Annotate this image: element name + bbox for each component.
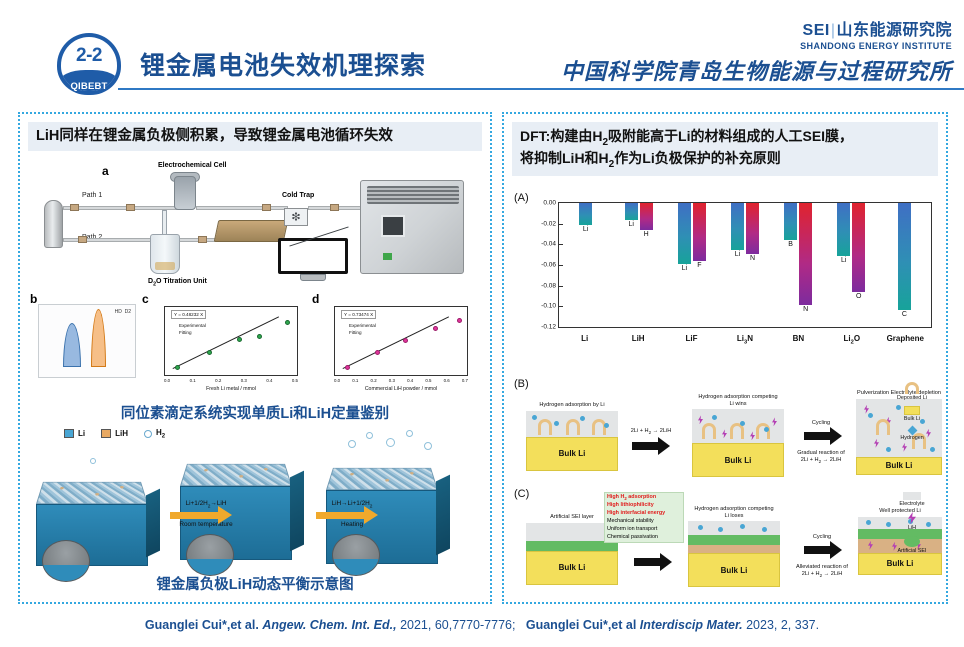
left-panel-mid-caption: 同位素滴定系统实现单质Li和LiH定量鉴别	[20, 402, 490, 423]
chart-bar: Li	[625, 203, 638, 220]
electrolyte-icon	[903, 492, 921, 500]
argon-tank-icon	[44, 200, 63, 248]
zoom-inset-3	[332, 534, 380, 576]
hydrogen-particle	[929, 446, 936, 453]
figure-d-legend-exp: Experimental	[349, 323, 376, 330]
chart-bar-fill	[678, 203, 691, 264]
reaction-1-label: Li+1/2H2→LiH	[146, 500, 266, 509]
valve-3	[78, 236, 87, 243]
panel-b-arrow-1	[632, 442, 658, 450]
figure-b-label: b	[30, 292, 37, 306]
panel-c-stage-2: Hydrogen adsorption competing Li loses B…	[688, 506, 780, 587]
figure-d-point	[375, 350, 380, 355]
figure-d-point	[433, 326, 438, 331]
legend-item-h2: H2	[144, 428, 165, 440]
valve-1	[70, 204, 79, 211]
hydrogen-particle	[717, 526, 724, 533]
chart-ytick: -0.12	[541, 324, 556, 331]
chart-bar-site-label: Li	[682, 265, 687, 272]
h2-bubble	[386, 438, 395, 447]
figure-a-apparatus: a Electrochemical Cell Cold Trap D2O Tit…	[30, 162, 484, 290]
electrolyte-region	[692, 409, 784, 443]
transition-arrow-2: LiH→Li+1/2H2 Heating	[292, 500, 412, 528]
hydrogen-particle	[867, 412, 874, 419]
figure-b-canvas: HD D2	[38, 304, 136, 378]
chart-bar-fill	[898, 203, 911, 310]
chart-ytick: 0.00	[543, 200, 556, 207]
chart-bar: N	[799, 203, 812, 305]
hydrogen-particle	[885, 446, 892, 453]
legend-item-deposited-li: Deposited Li	[884, 382, 940, 401]
li-swatch-icon	[64, 429, 74, 438]
panel-c-arrow-2-sub-line2: 2Li + H2 → 2LiH	[784, 571, 860, 579]
hydrogen-particle	[579, 415, 586, 422]
chart-bar-site-label: Li	[583, 226, 588, 233]
chart-bar: Li	[579, 203, 592, 225]
h2-bubble	[424, 442, 432, 450]
condition-2-label: Heating	[292, 521, 412, 528]
panel-c-arrow-2-label: Cycling	[792, 534, 852, 541]
hydrogen-particle	[553, 420, 560, 427]
figure-c-calibration-plot: c Detected D2 gas / mmol Y = 0.48232 X E…	[142, 294, 308, 394]
condition-1-label: Room temperature	[146, 521, 266, 528]
legend-label: Artificial SEI	[897, 548, 926, 554]
panel-b-legend: Deposited Li Bulk Li Hydrogen	[884, 382, 940, 446]
hydrogen-particle	[711, 414, 718, 421]
figure-c-legend-fit: Fitting	[179, 330, 206, 337]
deposited-li-shape	[702, 423, 716, 439]
legend-item-artificial-sei: Artificial SEI	[884, 536, 940, 554]
figure-b-3d-plot: b HD D2	[30, 294, 138, 394]
xtick: 0.2	[215, 378, 221, 383]
electrolyte-region	[688, 521, 780, 535]
panel-c-arrow-2	[804, 546, 830, 554]
sei-property: High interfacial energy	[607, 510, 681, 518]
xtick: 0.1	[190, 378, 196, 383]
cold-trap-icon	[284, 208, 308, 226]
h2-bubble	[90, 458, 96, 464]
sei-properties-list: High H2 adsorption High lithiophilicity …	[604, 492, 684, 543]
institute-abbr-row: SEI|山东能源研究院	[561, 16, 952, 40]
chart-ytick: -0.10	[541, 303, 556, 310]
label-electrochemical-cell: Electrochemical Cell	[158, 162, 226, 169]
xtick: 0.3	[389, 378, 395, 383]
panel-b-stage-2: Hydrogen adsorption competing Li wins Bu…	[692, 394, 784, 477]
arrow-1-body	[170, 512, 218, 519]
legend-item-electrolyte: Electrolyte	[884, 492, 940, 507]
valve-2	[126, 204, 135, 211]
chart-bars-container: LiLiHLiFLiNBNLiOC	[559, 203, 931, 327]
left-panel-title: LiH同样在锂金属负极侧积累，导致锂金属电池循环失效	[28, 122, 482, 151]
figure-c-xlabel: Fresh Li metal / mmol	[164, 386, 298, 392]
transition-arrow-1: Li+1/2H2→LiH Room temperature	[146, 500, 266, 528]
lih-swatch-icon	[101, 429, 111, 438]
block-side-face	[436, 475, 450, 556]
figure-c-xticks: 0.0 0.1 0.2 0.3 0.4 0.5	[164, 378, 298, 383]
section-c-label: (C)	[514, 488, 529, 500]
chart-bar-fill	[625, 203, 638, 220]
hydrogen-particle	[531, 414, 538, 421]
sei-property: Mechanical stability	[607, 518, 681, 526]
label-titration-unit: D2O Titration Unit	[148, 278, 207, 287]
legend-label-li: Li	[78, 429, 85, 438]
figure-d-point	[457, 318, 462, 323]
chart-bar-fill	[693, 203, 706, 261]
chart-bar: Li	[678, 203, 691, 264]
arrow-2-body	[316, 512, 364, 519]
bulk-li-block: Bulk Li	[692, 443, 784, 477]
lih-particle	[772, 417, 777, 426]
pipe-to-coldtrap	[196, 206, 288, 210]
chart-bar-site-label: B	[788, 241, 793, 248]
block-top-surface	[326, 468, 438, 490]
institute-branding: SEI|山东能源研究院 SHANDONG ENERGY INSTITUTE 中国…	[561, 16, 952, 86]
ms-display-icon	[381, 215, 405, 237]
legend-label-lih: LiH	[115, 429, 128, 438]
chart-plot-area: 0.00 -0.02 -0.04 -0.06 -0.08 -0.10 -0.12…	[558, 202, 932, 328]
left-panel-bottom-caption: 锂金属负极LiH动态平衡示意图	[20, 573, 490, 594]
section-a-chart: (A) H2 adsorption energy (eV) 0.00 -0.02…	[512, 192, 942, 374]
section-b-label: (B)	[514, 378, 529, 390]
lih-particle	[868, 541, 873, 550]
figure-d-label: d	[312, 292, 319, 306]
chart-bar-fill	[852, 203, 865, 292]
block-top-surface	[180, 464, 292, 486]
right-panel-title-line2: 将抑制LiH和H2作为Li负极保护的补充原则	[520, 149, 930, 171]
figure-c-legend-exp: Experimental	[179, 323, 206, 330]
hydrogen-particle	[739, 523, 746, 530]
chart-ytick: -0.06	[541, 262, 556, 269]
computer-monitor-icon	[278, 238, 348, 280]
chart-bar-site-label: N	[750, 255, 755, 262]
legend-item-lih: LiH	[884, 512, 940, 531]
chart-bar-fill	[731, 203, 744, 250]
xtick: 0.2	[371, 378, 377, 383]
sei-property: Chemical passivation	[607, 534, 681, 542]
chart-bar-site-label: F	[697, 262, 701, 269]
right-panel: DFT:构建由H2吸附能高于Li的材料组成的人工SEI膜， 将抑制LiH和H2作…	[502, 112, 948, 604]
xtick: 0.7	[462, 378, 468, 383]
chart-xtick: LiH	[611, 334, 664, 346]
figure-c-point	[207, 350, 212, 355]
qibebt-logo: 2-2 QIBEBT	[57, 33, 121, 95]
legend-label-h2: H2	[156, 428, 165, 440]
panel-b-stage-2-caption: Hydrogen adsorption competing Li wins	[692, 394, 784, 407]
valve-4	[198, 236, 207, 243]
figure-d-legend-fit: Fitting	[349, 330, 376, 337]
ref2-details: 2023, 2, 337.	[746, 618, 819, 632]
slide-header: 2-2 QIBEBT 锂金属电池失效机理探索 SEI|山东能源研究院 SHAND…	[0, 0, 964, 100]
brand-divider-glyph: |	[830, 22, 837, 39]
sei-property: High H2 adsorption	[607, 494, 681, 502]
ms-status-led	[383, 253, 392, 260]
chart-bar: B	[784, 203, 797, 240]
lih-particle	[874, 439, 879, 448]
hydrogen-particle	[761, 526, 768, 533]
chart-bar: N	[746, 203, 759, 254]
chart-bar: C	[898, 203, 911, 310]
h2-bubble	[406, 430, 413, 437]
hydrogen-bubble-icon	[144, 430, 152, 438]
legend-label: Electrolyte	[899, 501, 924, 507]
chart-xtick: Graphene	[879, 334, 932, 346]
panel-b-stage-2-line2: Li wins	[692, 401, 784, 408]
panel-b-arrow-2-sub: Gradual reaction of 2Li + H2 → 2LiH	[784, 450, 858, 465]
xtick: 0.6	[444, 378, 450, 383]
arrow-1-head	[218, 506, 232, 524]
chart-bar-fill	[746, 203, 759, 254]
xtick: 0.3	[241, 378, 247, 383]
figure-d-legend: Experimental Fitting	[349, 323, 376, 337]
panel-b-arrow-1-caption: 2Li + H2 → 2LiH	[624, 428, 678, 436]
reference-citations: Guanglei Cui*,et al. Angew. Chem. Int. E…	[0, 618, 964, 632]
institute-cn: 山东能源研究院	[836, 22, 952, 39]
figure-d-calibration-plot: d Detected HD gas / mmol Y = 0.73474 X E…	[312, 294, 478, 394]
chart-xtick: Li2O	[825, 334, 878, 346]
bulk-li-block: Bulk Li	[526, 551, 618, 585]
xtick: 0.1	[352, 378, 358, 383]
institute-en: SHANDONG ENERGY INSTITUTE	[561, 41, 952, 51]
arrow-2-head	[364, 506, 378, 524]
chart-bar: Li	[731, 203, 744, 250]
left-panel: LiH同样在锂金属负极侧积累，导致锂金属电池循环失效 a Electrochem…	[18, 112, 492, 604]
logo-number: 2-2	[57, 45, 121, 67]
institute-abbr: SEI	[803, 22, 830, 39]
h2-adsorption-chart: H2 adsorption energy (eV) 0.00 -0.02 -0.…	[558, 202, 932, 350]
section-c-schematic: (C) Artificial SEI layer Bulk Li High H2…	[512, 486, 942, 598]
xtick: 0.5	[425, 378, 431, 383]
chart-bar-fill	[640, 203, 653, 230]
figure-c-point	[175, 365, 180, 370]
chart-bar-fill	[579, 203, 592, 225]
peak-hd	[63, 323, 81, 367]
label-path-1: Path 1	[82, 192, 102, 199]
hydrogen-icon	[907, 426, 917, 436]
chart-bar: H	[640, 203, 653, 230]
ref2-authors: Guanglei Cui*,et al	[526, 618, 636, 632]
mass-spectrometer-body	[360, 180, 464, 274]
figure-c-point	[285, 320, 290, 325]
ref1-details: 2021, 60,7770-7776;	[400, 618, 515, 632]
chart-bar-fill	[784, 203, 797, 240]
chart-ytick: -0.08	[541, 282, 556, 289]
figure-d-xlabel: Commercial LiH powder / mmol	[334, 386, 468, 392]
ref1-journal: Angew. Chem. Int. Ed.,	[262, 618, 396, 632]
right-panel-title: DFT:构建由H2吸附能高于Li的材料组成的人工SEI膜， 将抑制LiH和H2作…	[512, 122, 938, 176]
chart-group: LiO	[825, 203, 878, 327]
chart-bar-fill	[837, 203, 850, 256]
panel-b-arrow-2-sub-line2: 2Li + H2 → 2LiH	[784, 457, 858, 465]
peak-d2	[91, 309, 106, 367]
syringe-icon	[162, 210, 167, 236]
label-cold-trap: Cold Trap	[282, 192, 314, 199]
chart-group: LiF	[665, 203, 718, 327]
monitor-screen	[278, 238, 348, 274]
title-divider	[118, 88, 964, 90]
chart-group: BN	[772, 203, 825, 327]
chart-bar: O	[852, 203, 865, 292]
legend-label: Bulk Li	[904, 416, 920, 422]
chart-xtick: Li3N	[718, 334, 771, 346]
li-anode-schematic: Li+1/2H2→LiH Room temperature LiH→Li+1/2…	[30, 444, 484, 584]
artificial-sei-icon	[904, 536, 920, 547]
figure-d-point	[403, 338, 408, 343]
chart-group: LiH	[612, 203, 665, 327]
panel-b-stage-2-line1: Hydrogen adsorption competing	[692, 394, 784, 401]
electrochemical-cell-body	[174, 176, 196, 210]
lih-particle	[750, 431, 755, 440]
lih-icon	[908, 512, 916, 524]
ref2-journal: Interdiscip Mater.	[640, 618, 743, 632]
panel-c-stage-2-line2: Li loses	[688, 513, 780, 520]
figure-c-equation: Y = 0.48232 X	[171, 310, 206, 319]
sei-property: High lithiophilicity	[607, 502, 681, 510]
legend-label: Deposited Li	[897, 395, 927, 401]
deposited-li-shape	[538, 419, 552, 435]
figure-c-point	[237, 337, 242, 342]
chart-group: LiN	[718, 203, 771, 327]
legend-item-hydrogen: Hydrogen	[884, 427, 940, 441]
ms-vent-grille	[367, 186, 459, 204]
chart-xtick: LiF	[665, 334, 718, 346]
chart-bar-site-label: Li	[735, 251, 740, 258]
legend-item-li: Li	[64, 429, 85, 438]
ref1-authors: Guanglei Cui*,et al.	[145, 618, 259, 632]
chart-ytick: -0.02	[541, 220, 556, 227]
mini-plot-row: b HD D2 c Detected D2 gas / mmol Y = 0.4…	[30, 294, 484, 394]
bulk-li-block: Bulk Li	[688, 553, 780, 587]
pipe-path1	[63, 206, 187, 210]
material-legend: Li LiH H2	[64, 428, 165, 440]
panel-c-arrow-2-sub: Alleviated reaction of 2Li + H2 → 2LiH	[784, 564, 860, 579]
h2-bubble	[366, 432, 373, 439]
deposited-li-shape	[566, 419, 580, 435]
figure-d-canvas: Y = 0.73474 X Experimental Fitting	[334, 306, 468, 376]
reaction-2-label: LiH→Li+1/2H2	[292, 500, 412, 509]
monitor-stand	[300, 274, 326, 281]
sei-property: Uniform ion transport	[607, 526, 681, 534]
bulk-li-block: Bulk Li	[856, 457, 942, 475]
xtick: 0.4	[266, 378, 272, 383]
valve-6	[330, 204, 339, 211]
legend-item-lih: LiH	[101, 429, 128, 438]
figure-c-point	[257, 334, 262, 339]
section-b-schematic: (B) Hydrogen adsorption by Li Bulk Li 2L…	[512, 376, 942, 484]
chart-bar-site-label: Li	[841, 257, 846, 264]
bulk-li-icon	[904, 406, 920, 415]
chart-bar: F	[693, 203, 706, 261]
panel-c-arrow-1	[634, 558, 660, 566]
panel-b-arrow-2	[804, 432, 830, 440]
legend-d2: D2	[125, 309, 131, 315]
chart-bar-site-label: C	[902, 311, 907, 318]
hydrogen-particle	[697, 524, 704, 531]
page-title: 锂金属电池失效机理探索	[140, 46, 426, 82]
chart-xtick: Li	[558, 334, 611, 346]
legend-hd: HD	[115, 309, 122, 315]
panel-c-legend: Electrolyte LiH Artificial SEI	[884, 492, 940, 559]
chart-bar-site-label: H	[644, 231, 649, 238]
right-panel-title-line1: DFT:构建由H2吸附能高于Li的材料组成的人工SEI膜，	[520, 127, 930, 149]
interlayer-region	[688, 545, 780, 553]
d2o-titration-vessel	[150, 234, 180, 274]
chart-group: C	[878, 203, 931, 327]
electrolyte-region	[526, 411, 618, 437]
figure-d-point	[345, 365, 350, 370]
legend-label: LiH	[908, 525, 916, 531]
panel-c-stage-2-line1: Hydrogen adsorption competing	[688, 506, 780, 513]
block-top-surface	[36, 482, 148, 504]
figure-c-legend: Experimental Fitting	[179, 323, 206, 337]
hydrogen-particle	[865, 519, 872, 526]
panel-b-arrow-2-label: Cycling	[790, 420, 852, 427]
figure-a-label: a	[102, 164, 109, 178]
chart-group: Li	[559, 203, 612, 327]
valve-5	[262, 204, 271, 211]
panel-b-stage-1: Hydrogen adsorption by Li Bulk Li	[526, 402, 618, 471]
chart-ytick: -0.04	[541, 241, 556, 248]
logo-org: QIBEBT	[57, 81, 121, 92]
chart-x-axis-labels: LiLiHLiFLi3NBNLi2OGraphene	[558, 334, 932, 346]
figure-b-legend: HD D2	[115, 309, 131, 315]
chart-bar-fill	[799, 203, 812, 305]
xtick: 0.4	[407, 378, 413, 383]
legend-item-bulk-li: Bulk Li	[884, 406, 940, 422]
h2-bubble	[348, 440, 356, 448]
chart-xtick: BN	[772, 334, 825, 346]
panel-c-stage-2-caption: Hydrogen adsorption competing Li loses	[688, 506, 780, 519]
lih-particle	[722, 429, 727, 438]
chart-bar: Li	[837, 203, 850, 256]
xtick: 0.5	[292, 378, 298, 383]
academy-cn: 中国科学院青岛生物能源与过程研究所	[561, 54, 952, 86]
xtick: 0.0	[334, 378, 340, 383]
figure-c-canvas: Y = 0.48232 X Experimental Fitting	[164, 306, 298, 376]
lih-particle	[698, 415, 703, 424]
chart-bar-site-label: O	[856, 293, 861, 300]
section-a-label: (A)	[514, 192, 529, 204]
artificial-sei-layer	[688, 535, 780, 545]
zoom-inset-2	[186, 534, 234, 576]
chart-bar-site-label: N	[803, 306, 808, 313]
bulk-li-block: Bulk Li	[526, 437, 618, 471]
deposited-li-icon	[905, 382, 919, 394]
figure-d-xticks: 0.0 0.1 0.2 0.3 0.4 0.5 0.6 0.7	[334, 378, 468, 383]
panel-c-arrow-2-sub-line1: Alleviated reaction of	[784, 564, 860, 571]
figure-d-equation: Y = 0.73474 X	[341, 310, 376, 319]
xtick: 0.0	[164, 378, 170, 383]
figure-c-label: c	[142, 292, 149, 306]
chart-bar-site-label: Li	[628, 221, 633, 228]
panel-b-stage-1-caption: Hydrogen adsorption by Li	[526, 402, 618, 409]
panel-b-arrow-2-sub-line1: Gradual reaction of	[784, 450, 858, 457]
